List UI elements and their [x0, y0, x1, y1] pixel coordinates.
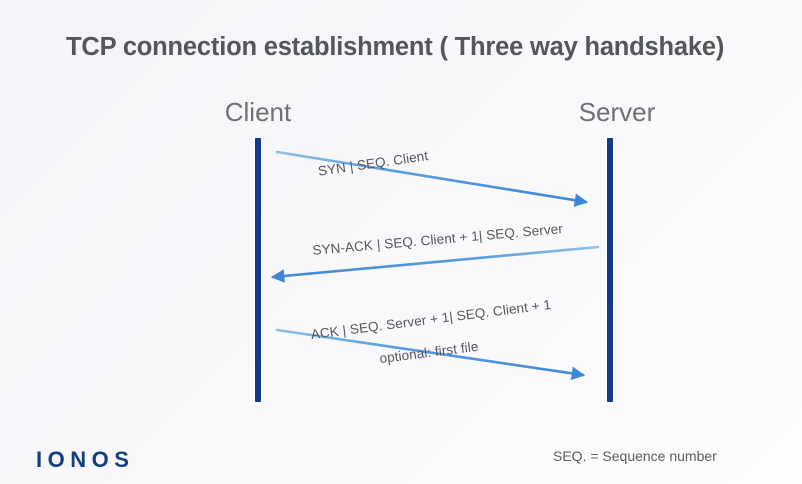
legend-text: SEQ. = Sequence number — [553, 449, 717, 463]
ionos-logo: IONOS — [36, 449, 134, 471]
slide-canvas: TCP connection establishment ( Three way… — [0, 0, 802, 484]
